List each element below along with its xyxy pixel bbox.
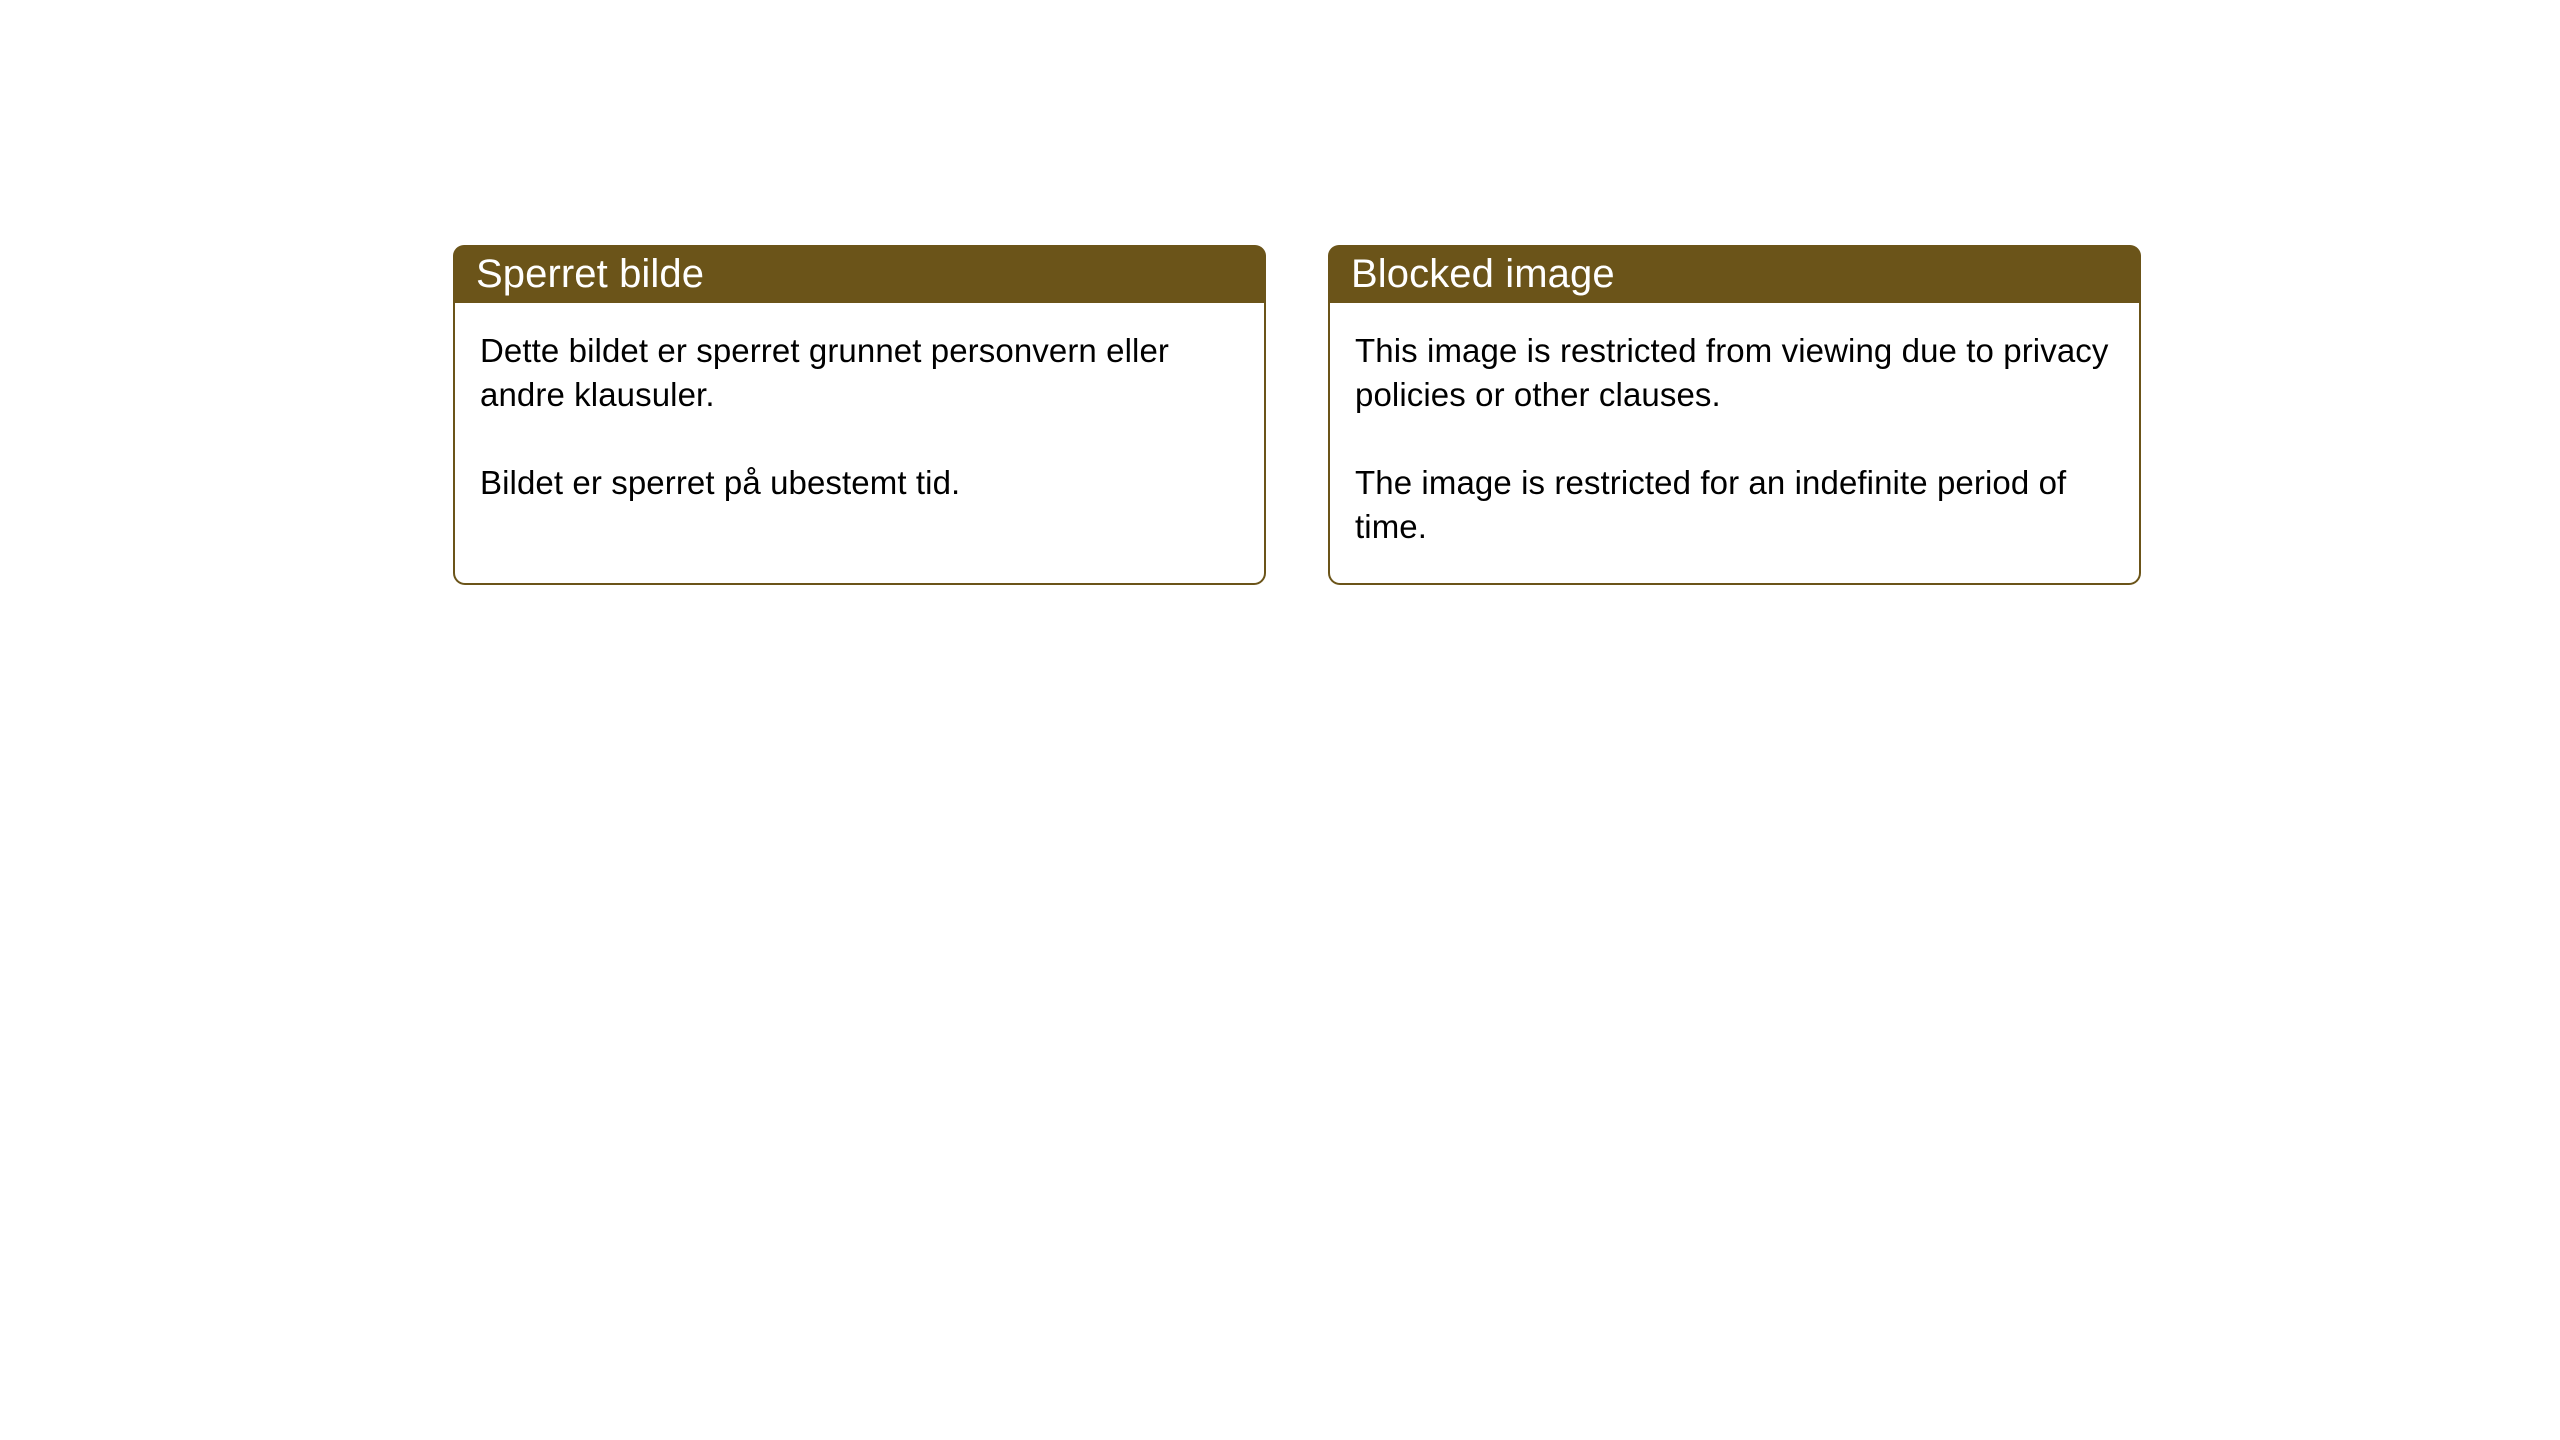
card-header-norwegian: Sperret bilde [453,245,1266,303]
blocked-image-notice-card-english: Blocked image This image is restricted f… [1328,245,2141,585]
card-paragraph-norwegian-2: Bildet er sperret på ubestemt tid. [480,461,1238,505]
card-paragraph-english-2: The image is restricted for an indefinit… [1355,461,2113,549]
card-title-norwegian: Sperret bilde [476,254,704,294]
card-paragraph-norwegian-1: Dette bildet er sperret grunnet personve… [480,329,1238,417]
page-canvas: Sperret bilde Dette bildet er sperret gr… [0,0,2560,1440]
card-paragraph-english-1: This image is restricted from viewing du… [1355,329,2113,417]
card-body-norwegian: Dette bildet er sperret grunnet personve… [453,303,1266,585]
card-header-english: Blocked image [1328,245,2141,303]
card-title-english: Blocked image [1351,254,1615,294]
card-body-english: This image is restricted from viewing du… [1328,303,2141,585]
blocked-image-notice-card-norwegian: Sperret bilde Dette bildet er sperret gr… [453,245,1266,585]
